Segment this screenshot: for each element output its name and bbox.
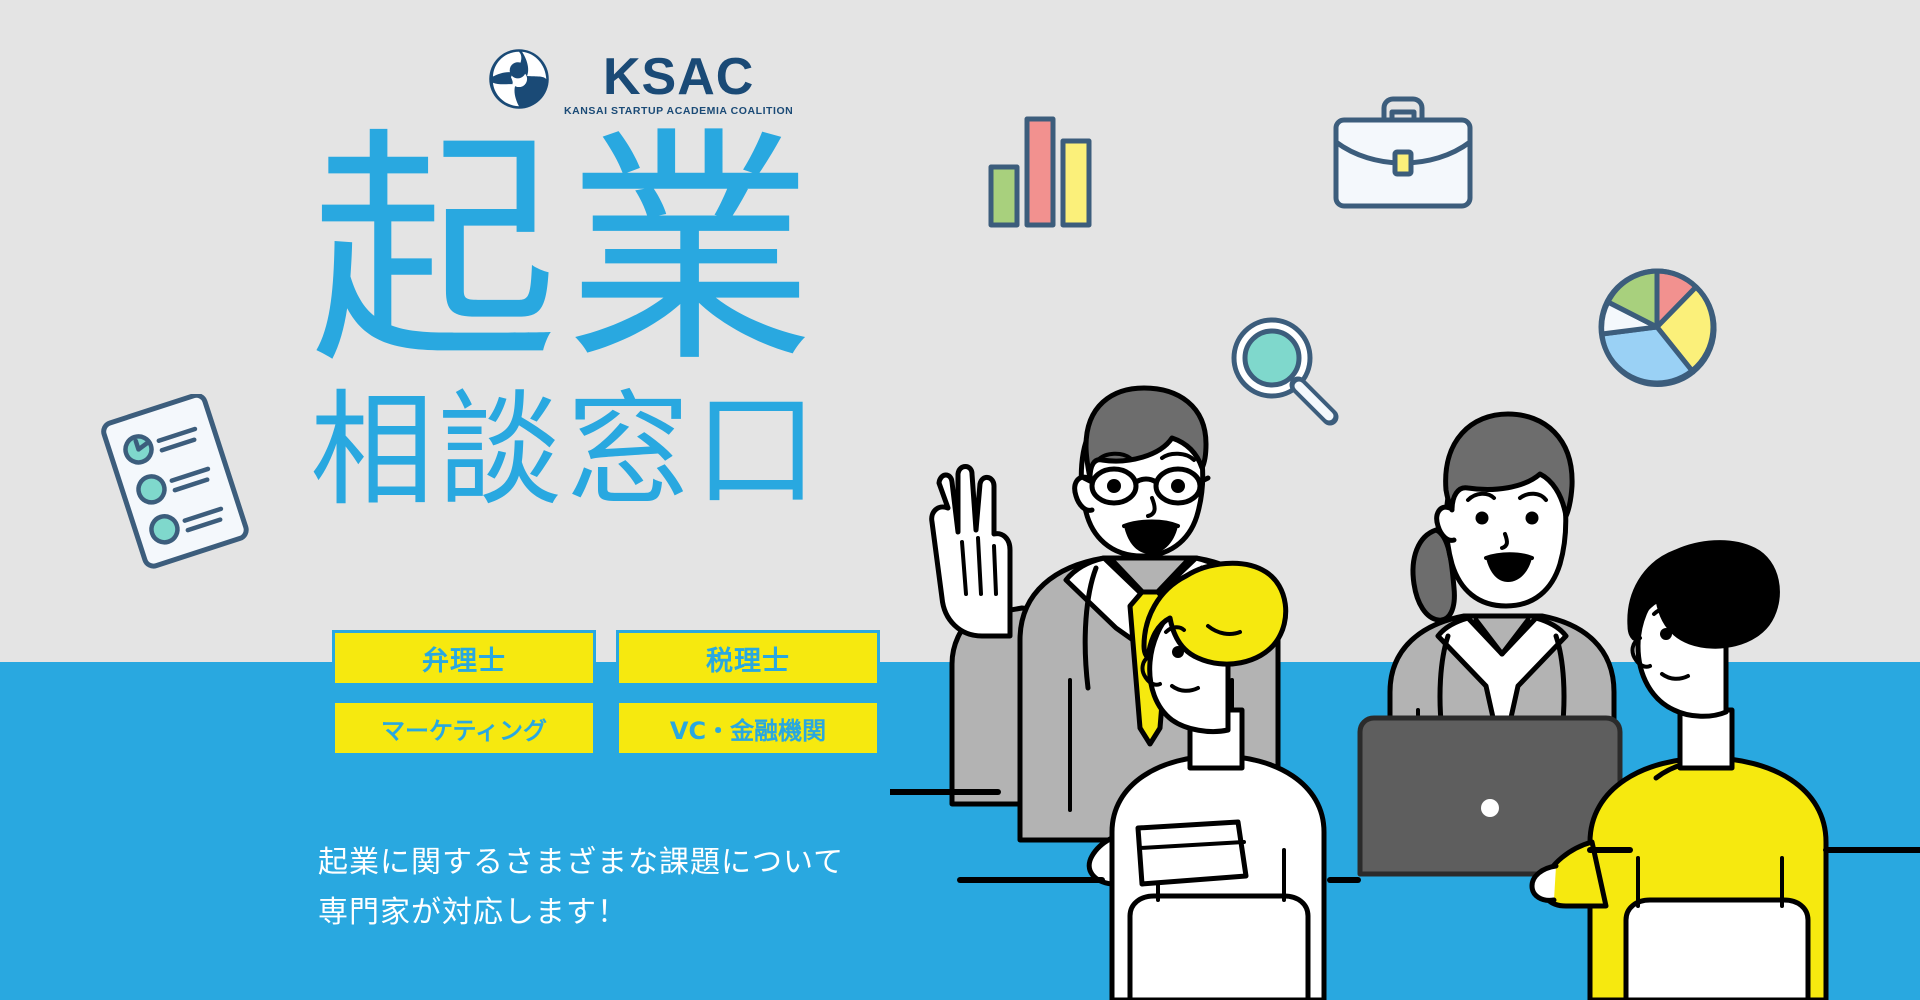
description-line-2: 専門家が対応します！ bbox=[318, 888, 844, 938]
page-title: 起業 相談窓口 bbox=[310, 128, 930, 516]
description-text: 起業に関するさまざまな課題について 専門家が対応します！ bbox=[318, 838, 844, 938]
tag-marketing[interactable]: マーケティング bbox=[332, 700, 596, 756]
client-blond-person bbox=[1112, 563, 1324, 1000]
logo-wordmark: KSAC bbox=[603, 50, 754, 104]
ksac-circular-mark bbox=[488, 48, 550, 110]
briefcase-icon bbox=[1328, 88, 1478, 213]
ksac-logo[interactable]: KSAC KANSAI STARTUP ACADEMIA COALITION bbox=[488, 48, 793, 117]
banner-stage: KSAC KANSAI STARTUP ACADEMIA COALITION 起… bbox=[0, 0, 1920, 1000]
headline-line-2: 相談窓口 bbox=[310, 386, 930, 516]
service-tag-group: 弁理士 税理士 マーケティング VC・金融機関 bbox=[332, 630, 880, 756]
bar-chart-icon bbox=[985, 105, 1095, 230]
tag-vc-finance[interactable]: VC・金融機関 bbox=[616, 700, 880, 756]
pie-chart-icon bbox=[1592, 262, 1722, 392]
tag-benrishi[interactable]: 弁理士 bbox=[332, 630, 596, 686]
checklist-icon bbox=[92, 394, 257, 569]
headline-line-1: 起業 bbox=[310, 128, 930, 376]
tag-zeirishi[interactable]: 税理士 bbox=[616, 630, 880, 686]
description-line-1: 起業に関するさまざまな課題について bbox=[318, 838, 844, 888]
consultation-meeting-illustration bbox=[890, 380, 1920, 1000]
